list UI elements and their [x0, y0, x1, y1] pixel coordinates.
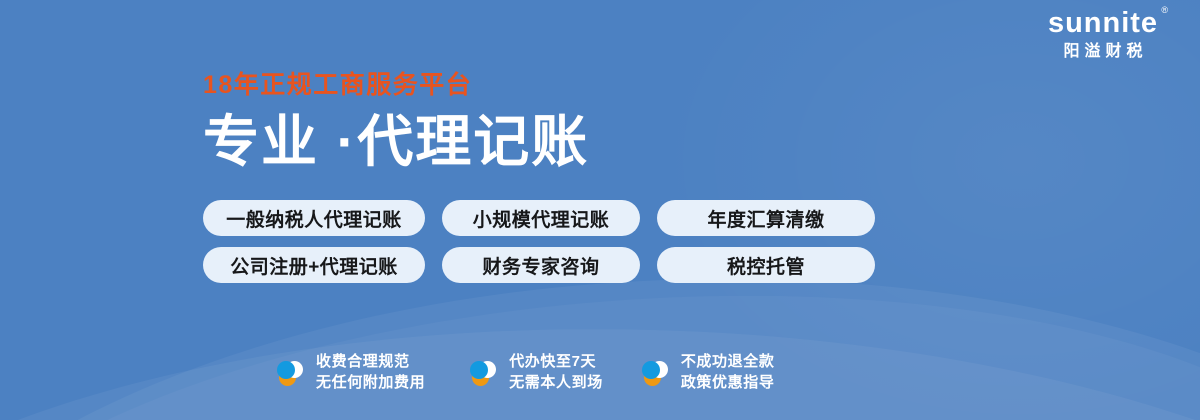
- brand-logo[interactable]: sunnite ® 阳溢财税: [1028, 8, 1178, 61]
- feature-item-guarantee: 不成功退全款 政策优惠指导: [641, 352, 775, 393]
- logo-wordmark-text: sunnite: [1048, 7, 1158, 39]
- feature-text-pricing: 收费合理规范 无任何附加费用: [316, 352, 425, 393]
- feature-item-speed: 代办快至7天 无需本人到场: [469, 352, 603, 393]
- logo-subtitle: 阳溢财税: [1028, 43, 1178, 61]
- feature-text-speed: 代办快至7天 无需本人到场: [509, 352, 603, 393]
- service-pill-company-registration[interactable]: 公司注册+代理记账: [203, 247, 425, 283]
- circles-badge-icon-blue: [277, 361, 295, 379]
- circles-badge-icon-blue: [470, 361, 488, 379]
- feature-text-guarantee: 不成功退全款 政策优惠指导: [681, 352, 775, 393]
- feature-line-1: 不成功退全款: [681, 352, 775, 373]
- feature-line-2: 无需本人到场: [509, 373, 603, 394]
- page-title: 专业 ·代理记账: [203, 112, 589, 172]
- service-pill-group: 一般纳税人代理记账 小规模代理记账 年度汇算清缴 公司注册+代理记账 财务专家咨…: [203, 200, 875, 283]
- circles-badge-icon: [469, 357, 499, 389]
- circles-badge-icon-blue: [642, 361, 660, 379]
- registered-trademark-icon: ®: [1161, 6, 1169, 15]
- service-pill-general-taxpayer[interactable]: 一般纳税人代理记账: [203, 200, 425, 236]
- service-pill-row-2: 公司注册+代理记账 财务专家咨询 税控托管: [203, 247, 875, 283]
- service-pill-small-scale[interactable]: 小规模代理记账: [442, 200, 640, 236]
- eyebrow-text: 18年正规工商服务平台: [203, 72, 589, 100]
- circles-badge-icon: [641, 357, 671, 389]
- service-pill-expert-consulting[interactable]: 财务专家咨询: [442, 247, 640, 283]
- promo-banner: sunnite ® 阳溢财税 18年正规工商服务平台 专业 ·代理记账 一般纳税…: [0, 0, 1200, 420]
- service-pill-tax-control-hosting[interactable]: 税控托管: [657, 247, 875, 283]
- feature-strip: 收费合理规范 无任何附加费用 代办快至7天 无需本人到场 不成功退全款: [276, 352, 774, 393]
- feature-line-2: 政策优惠指导: [681, 373, 775, 394]
- service-pill-row-1: 一般纳税人代理记账 小规模代理记账 年度汇算清缴: [203, 200, 875, 236]
- feature-item-pricing: 收费合理规范 无任何附加费用: [276, 352, 425, 393]
- service-pill-annual-settlement[interactable]: 年度汇算清缴: [657, 200, 875, 236]
- circles-badge-icon: [276, 357, 306, 389]
- feature-line-2: 无任何附加费用: [316, 373, 425, 394]
- feature-line-1: 代办快至7天: [509, 352, 603, 373]
- logo-wordmark: sunnite ®: [1048, 8, 1158, 38]
- feature-line-1: 收费合理规范: [316, 352, 425, 373]
- headline-block: 18年正规工商服务平台 专业 ·代理记账: [203, 72, 589, 172]
